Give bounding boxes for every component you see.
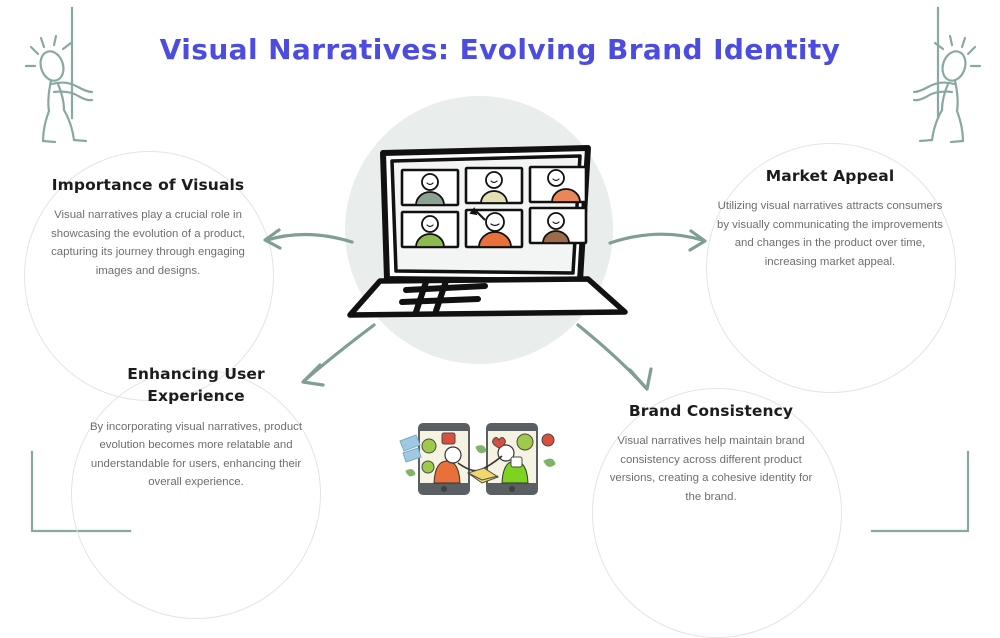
- stick-figure-pushing-right: [878, 14, 988, 144]
- node-importance-body: Visual narratives play a crucial role in…: [33, 206, 263, 280]
- node-market-heading: Market Appeal: [712, 165, 948, 187]
- page-title: Visual Narratives: Evolving Brand Identi…: [0, 33, 1000, 66]
- stick-figure-pushing-left: [18, 14, 128, 144]
- arrow-to-ux: [304, 325, 374, 381]
- node-ux-heading: Enhancing User Experience: [88, 363, 304, 408]
- two-phones-handshake-illustration: [398, 415, 563, 500]
- laptop-video-call-illustration: [340, 140, 632, 320]
- node-market-body: Utilizing visual narratives attracts con…: [712, 197, 948, 271]
- frame-bracket-bottom-right: [872, 452, 968, 531]
- node-brand-body: Visual narratives help maintain brand co…: [603, 432, 819, 506]
- node-importance-heading: Importance of Visuals: [33, 174, 263, 196]
- node-brand-heading: Brand Consistency: [603, 400, 819, 422]
- infographic-canvas: Visual Narratives: Evolving Brand Identi…: [0, 0, 1000, 563]
- node-brand: Brand Consistency Visual narratives help…: [603, 400, 819, 506]
- node-importance: Importance of Visuals Visual narratives …: [33, 174, 263, 280]
- arrow-to-brand: [578, 325, 646, 388]
- node-market: Market Appeal Utilizing visual narrative…: [712, 165, 948, 271]
- node-ux-body: By incorporating visual narratives, prod…: [88, 418, 304, 492]
- node-ux: Enhancing User Experience By incorporati…: [88, 363, 304, 492]
